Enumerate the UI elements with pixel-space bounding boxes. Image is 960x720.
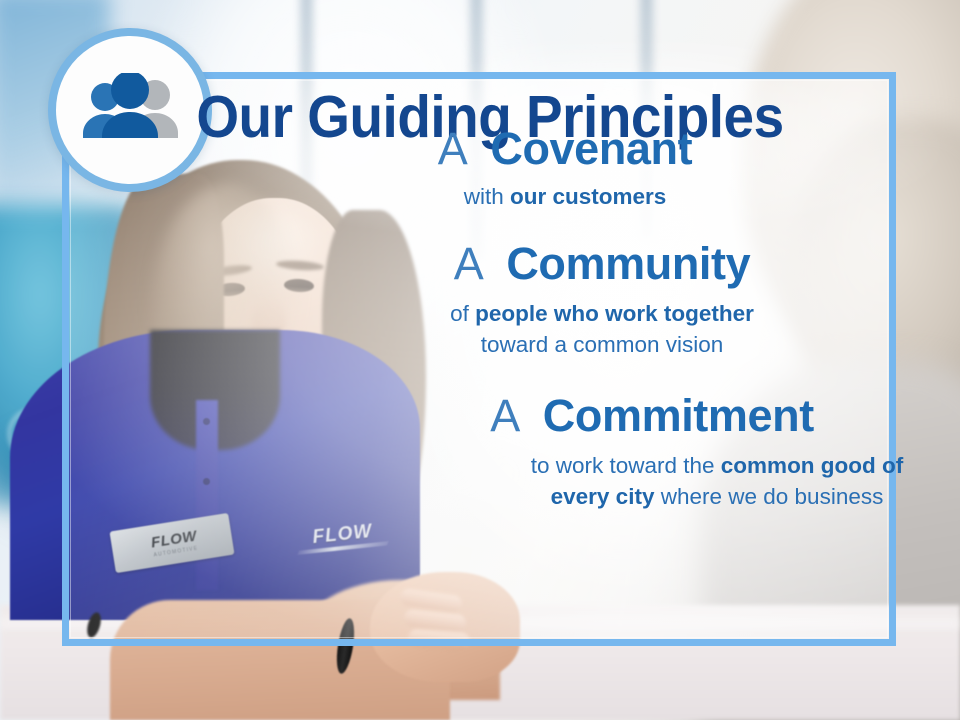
community-sub-bold: people who work together bbox=[475, 301, 754, 326]
community-sub-plain-a: of bbox=[450, 301, 475, 326]
covenant-sub-plain: with bbox=[464, 184, 510, 209]
poster: FLOW AUTOMOTIVE FLOW bbox=[0, 0, 960, 720]
principle-covenant-heading: A Covenant bbox=[285, 125, 845, 172]
principle-covenant-subtext: with our customers bbox=[285, 182, 845, 212]
principle-covenant-article: A bbox=[438, 123, 466, 174]
principle-community-subtext: of people who work together toward a com… bbox=[322, 299, 882, 360]
principle-community-heading: A Community bbox=[322, 240, 882, 287]
principle-community-article: A bbox=[454, 238, 482, 289]
principle-commitment-subtext: to work toward the common good of every … bbox=[502, 451, 932, 512]
principle-covenant: A Covenant with our customers bbox=[285, 125, 845, 213]
principle-community-word: Community bbox=[506, 238, 750, 289]
principle-commitment-article: A bbox=[490, 390, 518, 441]
principle-community: A Community of people who work together … bbox=[322, 240, 882, 360]
shirt-button-bottom bbox=[203, 478, 210, 485]
principle-commitment-heading: A Commitment bbox=[372, 392, 932, 439]
shirt-button-top bbox=[203, 418, 210, 425]
commitment-sub-plain-b: where we do business bbox=[654, 484, 883, 509]
people-group-icon bbox=[76, 73, 184, 147]
shirt-placket bbox=[196, 400, 218, 590]
commitment-sub-plain-a: to work toward the bbox=[531, 453, 721, 478]
principle-covenant-word: Covenant bbox=[490, 123, 692, 174]
principle-commitment-word: Commitment bbox=[543, 390, 814, 441]
principle-commitment: A Commitment to work toward the common g… bbox=[372, 392, 932, 512]
covenant-sub-bold: our customers bbox=[510, 184, 666, 209]
community-sub-plain-b: toward a common vision bbox=[481, 332, 724, 357]
